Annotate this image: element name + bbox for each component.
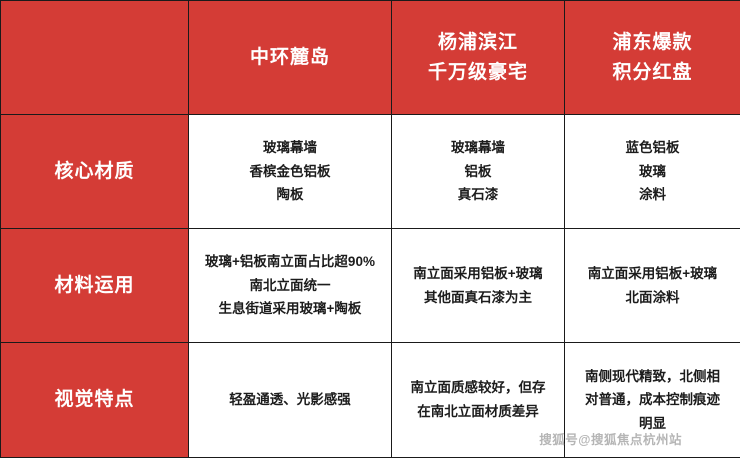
table-row: 视觉特点 轻盈通透、光影感强 南立面质感较好，但存 在南北立面材质差异 南侧现代… xyxy=(1,343,740,458)
cell-visual-pudong: 南侧现代精致，北侧相 对普通，成本控制痕迹 明显 xyxy=(565,343,740,458)
column-header-pudong-line-2: 积分红盘 xyxy=(571,58,734,87)
column-header-yangpu-line-1: 杨浦滨江 xyxy=(398,28,558,57)
cell-usage-pudong-line-1: 南立面采用铝板+玻璃 xyxy=(571,262,734,286)
column-header-pudong: 浦东爆款 积分红盘 xyxy=(565,1,740,115)
cell-visual-yangpu-line-1: 南立面质感较好，但存 xyxy=(398,376,558,400)
cell-usage-pudong-line-2: 北面涂料 xyxy=(571,286,734,310)
cell-visual-yangpu-line-2: 在南北立面材质差异 xyxy=(398,400,558,424)
comparison-table-page: 中环麓岛 杨浦滨江 千万级豪宅 浦东爆款 积分红盘 核心材质 玻璃幕墙 香槟金色… xyxy=(0,0,740,457)
cell-visual-yangpu: 南立面质感较好，但存 在南北立面材质差异 xyxy=(392,343,565,458)
table-row: 核心材质 玻璃幕墙 香槟金色铝板 陶板 玻璃幕墙 铝板 真石漆 蓝色铝板 玻璃 … xyxy=(1,115,740,229)
cell-visual-zhonghuan-line-1: 轻盈通透、光影感强 xyxy=(195,388,385,412)
cell-core-pudong-line-1: 蓝色铝板 xyxy=(571,136,734,160)
table-corner-cell xyxy=(1,1,189,115)
cell-usage-pudong: 南立面采用铝板+玻璃 北面涂料 xyxy=(565,229,740,343)
column-header-pudong-line-1: 浦东爆款 xyxy=(571,28,734,57)
cell-core-zhonghuan: 玻璃幕墙 香槟金色铝板 陶板 xyxy=(189,115,392,229)
cell-visual-pudong-line-1: 南侧现代精致，北侧相 xyxy=(571,365,734,389)
cell-core-pudong: 蓝色铝板 玻璃 涂料 xyxy=(565,115,740,229)
cell-usage-zhonghuan-line-3: 生息街道采用玻璃+陶板 xyxy=(195,297,385,321)
table-header-row: 中环麓岛 杨浦滨江 千万级豪宅 浦东爆款 积分红盘 xyxy=(1,1,740,115)
row-label-material-usage: 材料运用 xyxy=(1,229,189,343)
cell-core-zhonghuan-line-3: 陶板 xyxy=(195,183,385,207)
cell-usage-zhonghuan-line-2: 南北立面统一 xyxy=(195,274,385,298)
cell-core-yangpu-line-1: 玻璃幕墙 xyxy=(398,136,558,160)
column-header-zhonghuan: 中环麓岛 xyxy=(189,1,392,115)
material-comparison-table: 中环麓岛 杨浦滨江 千万级豪宅 浦东爆款 积分红盘 核心材质 玻璃幕墙 香槟金色… xyxy=(0,0,740,458)
row-label-core-material: 核心材质 xyxy=(1,115,189,229)
cell-core-zhonghuan-line-2: 香槟金色铝板 xyxy=(195,160,385,184)
cell-visual-pudong-line-2: 对普通，成本控制痕迹 xyxy=(571,388,734,412)
cell-core-pudong-line-3: 涂料 xyxy=(571,183,734,207)
cell-visual-zhonghuan: 轻盈通透、光影感强 xyxy=(189,343,392,458)
table-row: 材料运用 玻璃+铝板南立面占比超90% 南北立面统一 生息街道采用玻璃+陶板 南… xyxy=(1,229,740,343)
cell-core-yangpu-line-2: 铝板 xyxy=(398,160,558,184)
row-label-visual-feature: 视觉特点 xyxy=(1,343,189,458)
cell-core-pudong-line-2: 玻璃 xyxy=(571,160,734,184)
column-header-yangpu-line-2: 千万级豪宅 xyxy=(398,58,558,87)
cell-usage-zhonghuan-line-1: 玻璃+铝板南立面占比超90% xyxy=(195,250,385,274)
cell-core-yangpu-line-3: 真石漆 xyxy=(398,183,558,207)
cell-usage-zhonghuan: 玻璃+铝板南立面占比超90% 南北立面统一 生息街道采用玻璃+陶板 xyxy=(189,229,392,343)
cell-usage-yangpu: 南立面采用铝板+玻璃 其他面真石漆为主 xyxy=(392,229,565,343)
cell-core-yangpu: 玻璃幕墙 铝板 真石漆 xyxy=(392,115,565,229)
column-header-zhonghuan-line-1: 中环麓岛 xyxy=(195,43,385,72)
cell-usage-yangpu-line-1: 南立面采用铝板+玻璃 xyxy=(398,262,558,286)
cell-core-zhonghuan-line-1: 玻璃幕墙 xyxy=(195,136,385,160)
cell-usage-yangpu-line-2: 其他面真石漆为主 xyxy=(398,286,558,310)
cell-visual-pudong-line-3: 明显 xyxy=(571,412,734,436)
column-header-yangpu: 杨浦滨江 千万级豪宅 xyxy=(392,1,565,115)
